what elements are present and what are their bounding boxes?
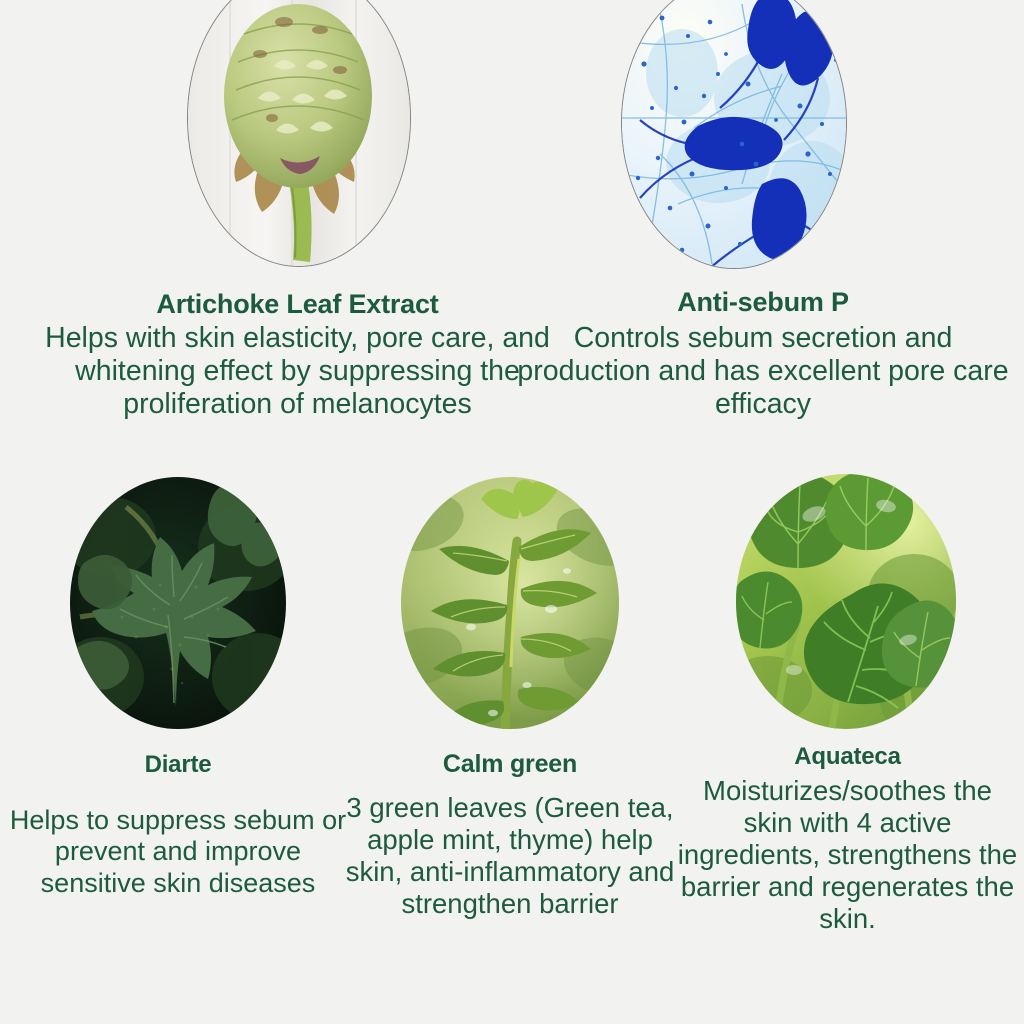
card-description: 3 green leaves (Green tea, apple mint, t…	[339, 792, 681, 920]
card-description: Controls sebum secretion and production …	[508, 322, 1018, 421]
ingredient-board: Artichoke Leaf Extract Helps with skin e…	[0, 0, 1024, 1024]
artichoke-photo	[188, 0, 410, 266]
card-title: Diarte	[0, 752, 356, 777]
artichoke-photo-inner	[188, 0, 410, 266]
mugwort-leaves-illustration	[70, 477, 286, 729]
mugwort-leaves-photo-inner	[70, 477, 286, 729]
card-description: Moisturizes/soothes the skin with 4 acti…	[675, 775, 1020, 934]
microscope-slide-photo	[622, 0, 846, 268]
mugwort-leaves-photo	[70, 477, 286, 729]
centella-leaves-photo	[736, 474, 956, 729]
card-description: Helps with skin elasticity, pore care, a…	[40, 322, 555, 421]
green-tea-shoot-photo	[401, 477, 619, 729]
microscope-slide-illustration	[622, 0, 846, 268]
card-title: Anti-sebum P	[508, 288, 1018, 316]
card-title: Artichoke Leaf Extract	[40, 290, 555, 318]
green-tea-shoot-illustration	[401, 477, 619, 729]
card-title: Calm green	[339, 751, 681, 777]
microscope-slide-photo-inner	[622, 0, 846, 268]
centella-leaves-photo-inner	[736, 474, 956, 729]
card-description: Helps to suppress sebum or prevent and i…	[0, 805, 356, 899]
artichoke-illustration	[188, 0, 410, 266]
green-tea-shoot-photo-inner	[401, 477, 619, 729]
card-title: Aquateca	[675, 744, 1020, 769]
centella-leaves-illustration	[736, 474, 956, 729]
